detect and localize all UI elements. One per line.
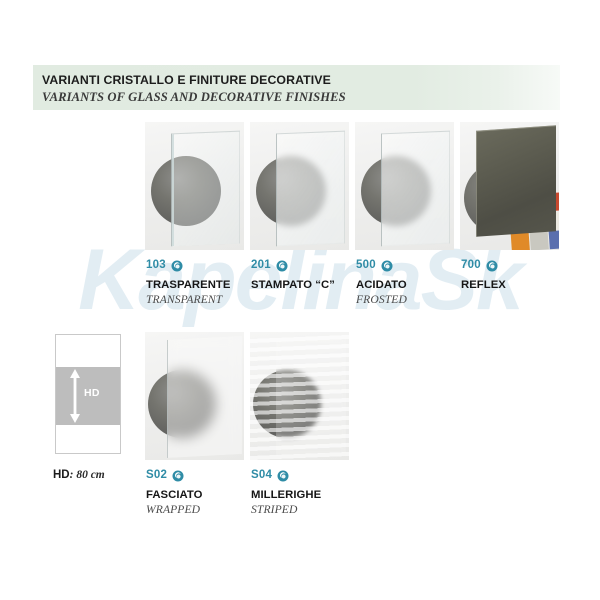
drop-swirl-icon	[486, 260, 498, 272]
code-row: 500	[356, 259, 407, 273]
color-swatch	[549, 230, 559, 249]
hd-height-diagram: HD	[55, 334, 121, 454]
glass-pane-edge	[276, 131, 345, 247]
glass-pane-striped	[250, 332, 349, 460]
hd-caption-value: : 80 cm	[70, 469, 105, 481]
code-row: 700	[461, 259, 506, 273]
hd-caption-key: HD	[53, 469, 70, 481]
finish-name: TRASPARENTE	[146, 279, 230, 292]
caption-fasciato: S02 FASCIATO WRAPPED	[146, 469, 202, 516]
caption-trasparente: 103 TRASPARENTE TRANSPARENT	[146, 259, 230, 306]
sample-tile-millerighe[interactable]	[250, 332, 349, 460]
sample-tile-trasparente[interactable]	[145, 122, 244, 250]
section-header-band: VARIANTI CRISTALLO E FINITURE DECORATIVE…	[33, 65, 560, 110]
finish-name-english: STRIPED	[251, 503, 321, 516]
caption-reflex: 700 REFLEX	[461, 259, 506, 293]
caption-acidato: 500 ACIDATO FROSTED	[356, 259, 407, 306]
finish-name-english: TRANSPARENT	[146, 293, 230, 306]
finish-name: STAMPATO “C”	[251, 279, 335, 292]
sample-tile-stampato-c[interactable]	[250, 122, 349, 250]
glass-pane-reflex	[476, 125, 556, 237]
drop-swirl-icon	[171, 260, 183, 272]
drop-swirl-icon	[277, 470, 289, 482]
caption-millerighe: S04 MILLERIGHE STRIPED	[251, 469, 321, 516]
finish-name: MILLERIGHE	[251, 489, 321, 502]
finish-name: FASCIATO	[146, 489, 202, 502]
finish-name: ACIDATO	[356, 279, 407, 292]
caption-stampato-c: 201 STAMPATO “C”	[251, 259, 335, 293]
finish-name-english: FROSTED	[356, 293, 407, 306]
page-title: VARIANTI CRISTALLO E FINITURE DECORATIVE	[42, 73, 331, 87]
finish-code: S02	[146, 470, 167, 482]
code-row: 201	[251, 259, 335, 273]
color-swatch	[530, 231, 549, 250]
glass-pane-clear	[171, 131, 240, 247]
hd-double-arrow-icon	[68, 369, 82, 423]
finish-code: 103	[146, 260, 166, 272]
sample-tile-acidato[interactable]	[355, 122, 454, 250]
finish-code: 500	[356, 260, 376, 272]
page-subtitle: VARIANTS OF GLASS AND DECORATIVE FINISHE…	[42, 90, 346, 105]
finish-code: 700	[461, 260, 481, 272]
sample-tile-fasciato[interactable]	[145, 332, 244, 460]
finish-name-english: WRAPPED	[146, 503, 202, 516]
drop-swirl-icon	[276, 260, 288, 272]
finish-code: S04	[251, 470, 272, 482]
hd-band-label: HD	[84, 387, 100, 399]
glass-pane-edge	[381, 131, 450, 247]
drop-swirl-icon	[172, 470, 184, 482]
sample-tile-reflex[interactable]	[460, 122, 559, 250]
finish-name: REFLEX	[461, 279, 506, 292]
code-row: S04	[251, 469, 321, 483]
code-row: S02	[146, 469, 202, 483]
hd-caption: HD: 80 cm	[53, 469, 105, 481]
glass-pane-wrapped	[167, 336, 242, 458]
code-row: 103	[146, 259, 230, 273]
color-swatch	[511, 233, 530, 250]
drop-swirl-icon	[381, 260, 393, 272]
finish-code: 201	[251, 260, 271, 272]
